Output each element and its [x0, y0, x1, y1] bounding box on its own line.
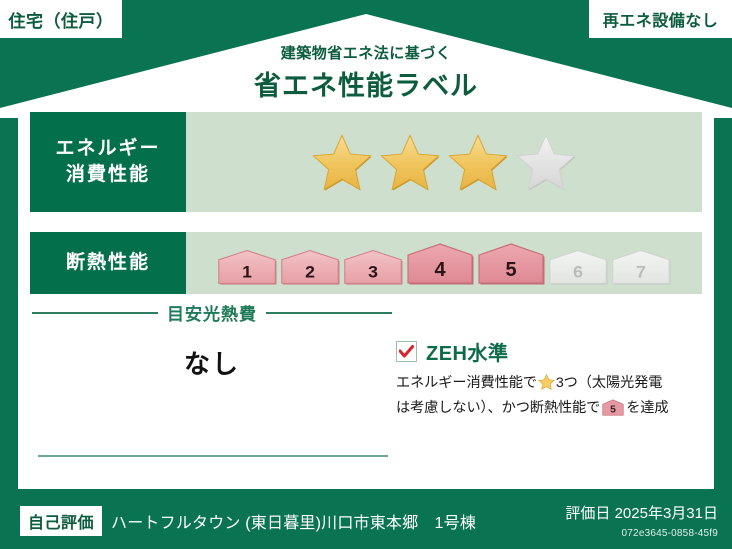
evaluation-id: 072e3645-0858-45f9	[622, 528, 718, 539]
insulation-performance-value: 1234567	[186, 232, 702, 294]
evaluation-meta: 評価日 2025年3月31日 072e3645-0858-45f9	[565, 502, 718, 541]
dwelling-type-tag: 住宅（住戸）	[0, 0, 122, 38]
dwelling-type-label: 住宅（住戸）	[9, 7, 114, 32]
house-icon-level-4: 4	[406, 241, 474, 285]
renewable-equipment-label: 再エネ設備なし	[603, 7, 719, 31]
heading-rule-right	[266, 312, 392, 314]
zeh-description: エネルギー消費性能で 3つ（太陽光発電 は考慮しない）、かつ断熱性能で 5 を達…	[396, 372, 696, 424]
insulation-performance-label: 断熱性能	[30, 232, 186, 294]
house-icon-level-3: 3	[343, 248, 403, 285]
renewable-equipment-tag: 再エネ設備なし	[589, 0, 732, 38]
house-level-number: 5	[505, 259, 516, 281]
utility-cost-heading-text: 目安光熱費	[167, 300, 257, 325]
energy-performance-label: エネルギー 消費性能	[30, 112, 186, 212]
energy-performance-row: エネルギー 消費性能	[30, 112, 702, 212]
check-icon	[396, 341, 417, 362]
inline-house-icon: 5	[602, 399, 624, 423]
label-footer: 自己評価 ハートフルタウン (東日暮里)川口市東本郷 1号棟 評価日 2025年…	[0, 493, 732, 549]
zeh-desc-part2: 3つ（太陽光発電	[556, 375, 662, 391]
house-level-number: 6	[573, 262, 583, 282]
star-rating	[311, 132, 577, 192]
insulation-label-text: 断熱性能	[66, 250, 150, 276]
label-title-block: 建築物省エネ法に基づく 省エネ性能ラベル	[0, 42, 732, 103]
house-level-number: 7	[636, 262, 646, 282]
house-icon-level-6: 6	[548, 248, 608, 285]
house-icon-level-1: 1	[217, 248, 277, 285]
inline-star-icon	[538, 374, 555, 397]
zeh-title: ZEH水準	[426, 337, 509, 366]
evaluation-date: 評価日 2025年3月31日	[565, 505, 718, 522]
house-icon-level-5: 5	[477, 241, 545, 285]
building-name: ハートフルタウン (東日暮里)川口市東本郷 1号棟	[111, 509, 476, 533]
utility-cost-heading: 目安光熱費	[32, 300, 392, 325]
heading-rule-left	[32, 312, 158, 314]
utility-cost-value: なし	[32, 344, 392, 381]
star-icon-filled	[447, 132, 509, 192]
svg-text:5: 5	[610, 405, 616, 416]
energy-label-line1: エネルギー	[55, 136, 160, 162]
house-level-number: 1	[242, 262, 252, 282]
house-level-number: 3	[368, 262, 378, 282]
zeh-desc-part1: エネルギー消費性能で	[396, 375, 537, 391]
insulation-level-scale: 1234567	[217, 241, 671, 285]
title-subtitle: 建築物省エネ法に基づく	[0, 42, 732, 63]
zeh-standard-block: ZEH水準 エネルギー消費性能で 3つ（太陽光発電 は考慮しない）、かつ断熱性能…	[396, 337, 696, 424]
self-evaluation-badge: 自己評価	[20, 506, 102, 536]
energy-label-line2: 消費性能	[66, 162, 150, 188]
title-main: 省エネ性能ラベル	[0, 64, 732, 103]
insulation-performance-row: 断熱性能 1234567	[30, 232, 702, 294]
house-level-number: 4	[434, 259, 446, 281]
zeh-desc-part3: は考慮しない）、かつ断熱性能で	[396, 400, 600, 416]
house-icon-level-2: 2	[280, 248, 340, 285]
star-icon-empty	[515, 132, 577, 192]
label-body-panel: エネルギー 消費性能 断熱性能 1234567 目安光熱費 なし	[18, 104, 714, 489]
energy-performance-value	[186, 112, 702, 212]
star-icon-filled	[379, 132, 441, 192]
utility-cost-underline	[38, 455, 388, 457]
zeh-heading: ZEH水準	[396, 337, 696, 366]
house-icon-level-7: 7	[611, 248, 671, 285]
star-icon-filled	[311, 132, 373, 192]
zeh-desc-part4: を達成	[626, 400, 668, 416]
house-level-number: 2	[305, 262, 315, 282]
energy-performance-label: 住宅（住戸） 再エネ設備なし 建築物省エネ法に基づく 省エネ性能ラベル エネルギ…	[0, 0, 732, 549]
